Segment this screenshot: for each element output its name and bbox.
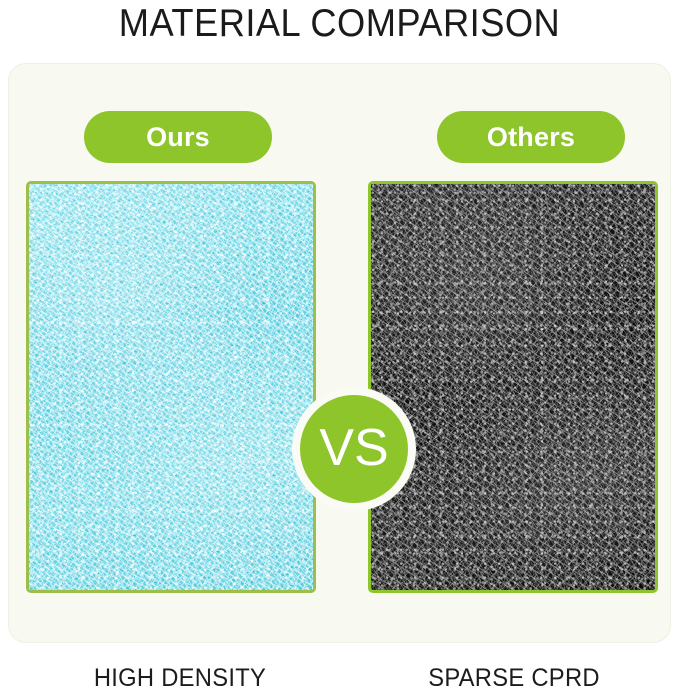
badge-ours-label: Ours [146, 122, 210, 153]
caption-others: SPARSE CPRD [369, 662, 660, 694]
comparison-card: Ours Others VS HIGH DENSITY SPARSE CPRD [8, 63, 671, 643]
badge-ours: Ours [84, 111, 272, 163]
vs-label: VS [319, 422, 388, 474]
caption-ours: HIGH DENSITY [35, 662, 326, 694]
badge-others: Others [437, 111, 625, 163]
badge-others-label: Others [487, 122, 575, 153]
comparison-graphic: MATERIAL COMPARISON Ours Others VS HIGH … [0, 0, 679, 665]
vs-divider-badge: VS [292, 387, 416, 511]
sample-panel-others [368, 181, 658, 593]
sample-panel-ours [26, 181, 316, 593]
sparse-dark-fiber-texture [371, 184, 655, 590]
dense-cyan-fiber-texture [29, 184, 313, 590]
page-title: MATERIAL COMPARISON [24, 2, 655, 46]
vs-circle: VS [300, 395, 408, 503]
